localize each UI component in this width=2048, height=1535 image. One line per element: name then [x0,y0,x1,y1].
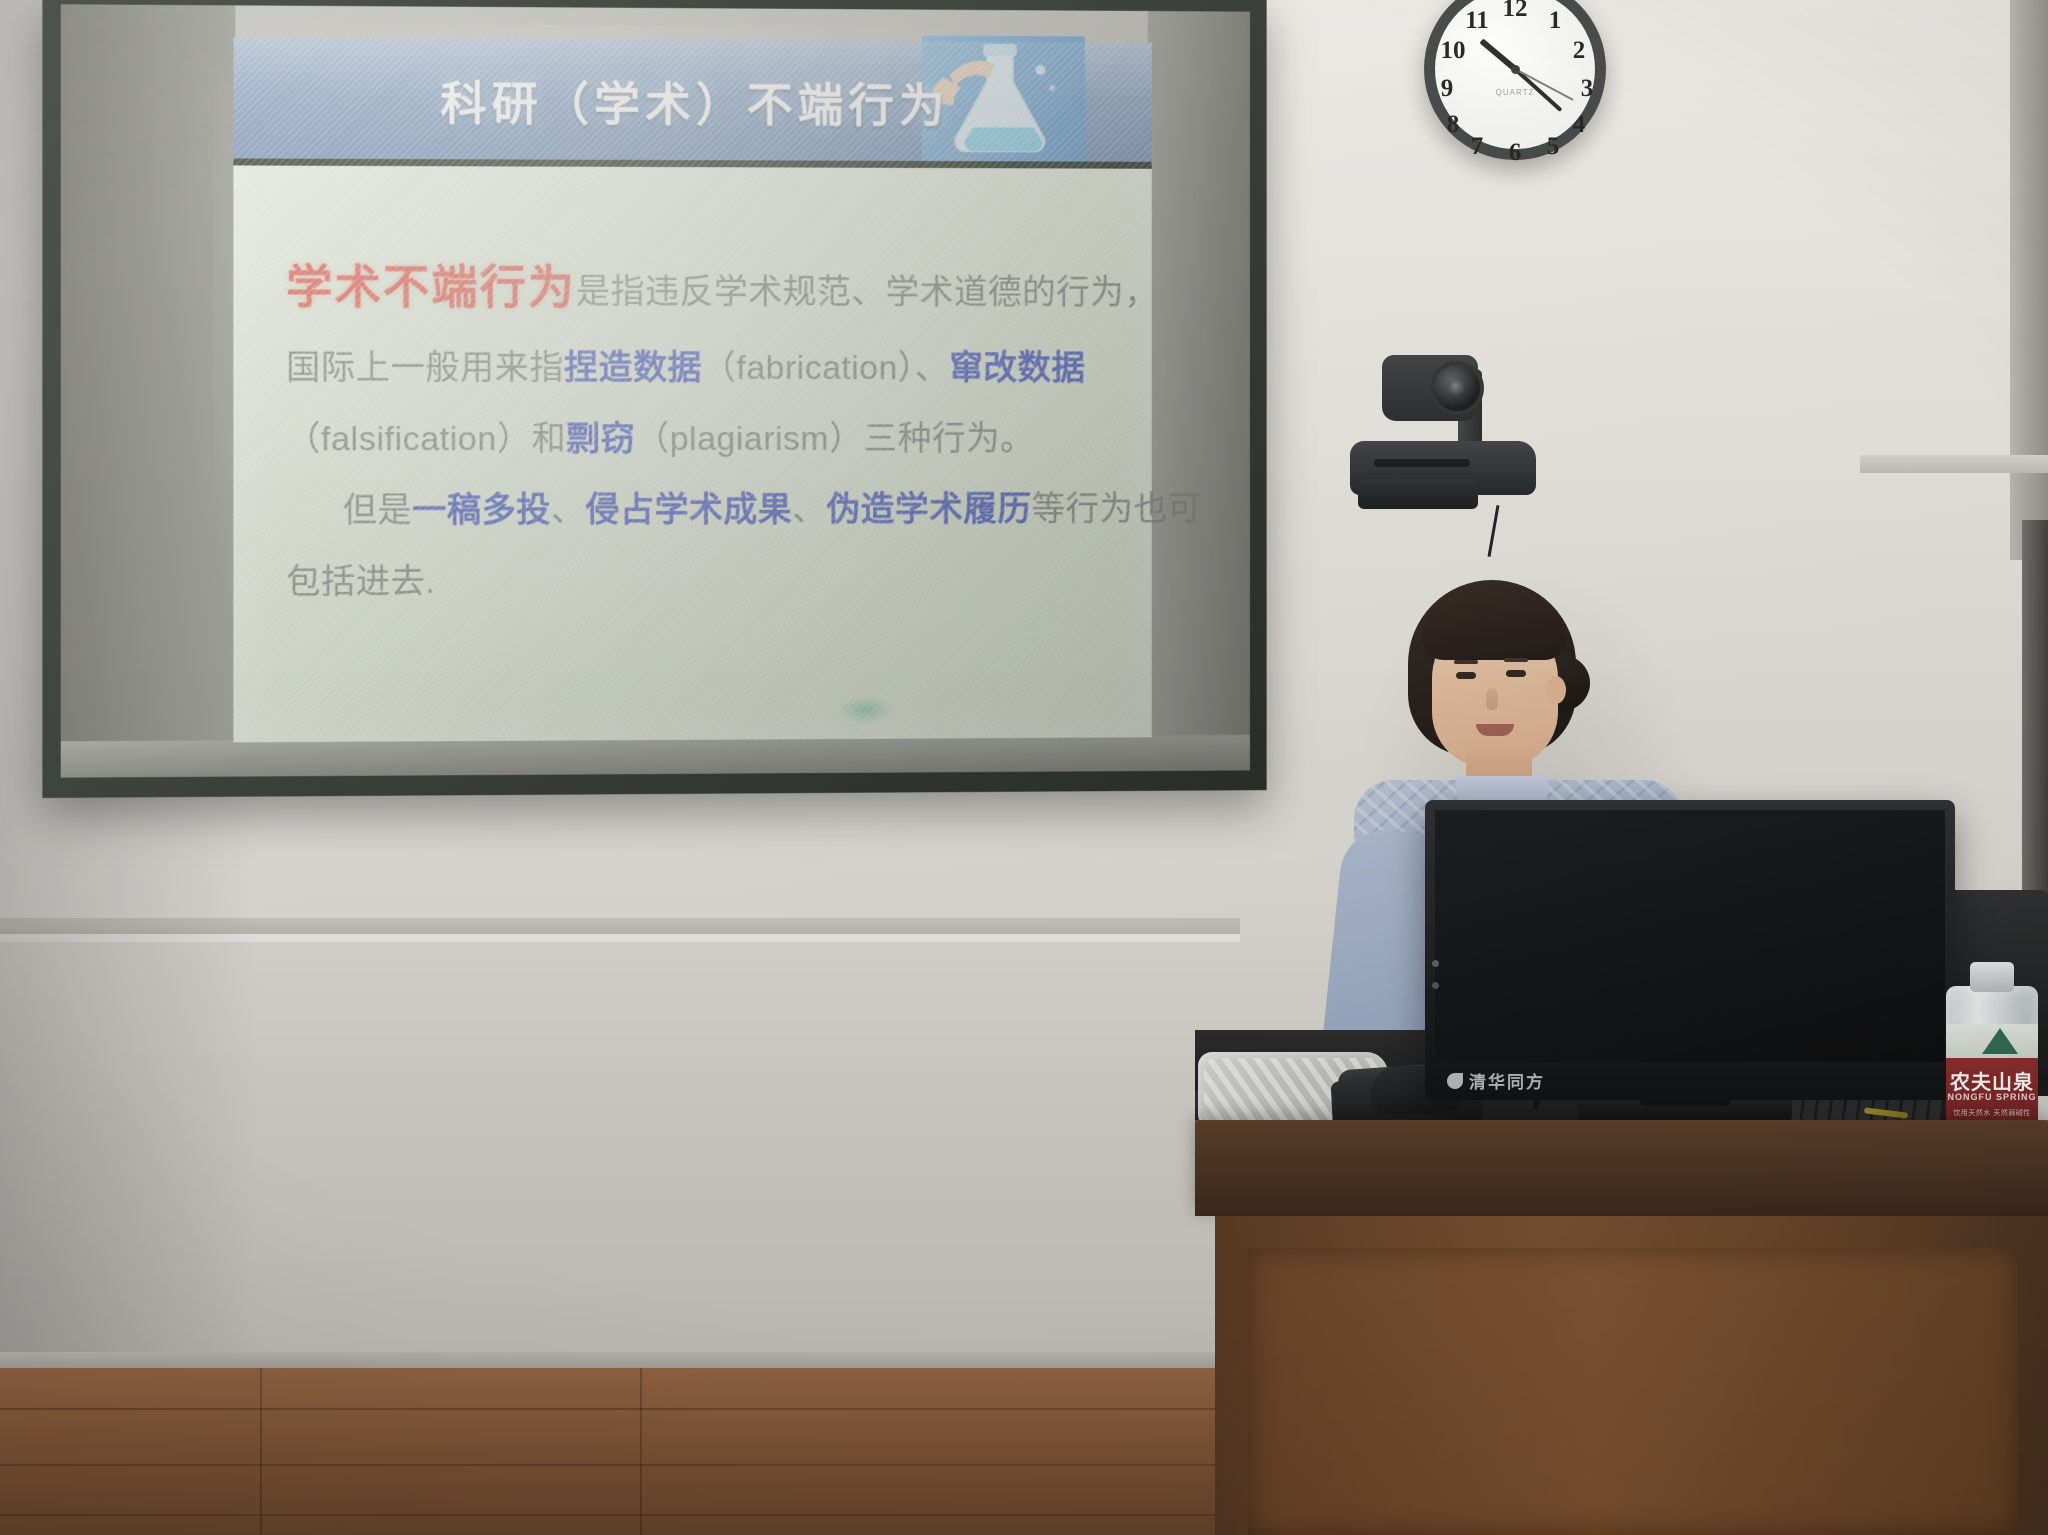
screen-unlit-left [61,4,236,777]
clock-numeral-2: 2 [1565,37,1593,65]
tongfang-logo-icon [1447,1073,1463,1089]
clock-numeral-7: 7 [1463,133,1491,161]
slide-line-5-a: 包括进去. [286,562,435,601]
slide-line-3-a: （falsification）和 [286,420,566,458]
slide-line-1-rest: 是指违反学术规范、学术道德的行为， [576,273,1158,312]
right-wall-rail [1860,455,2048,473]
presenter-fringe [1422,600,1566,660]
keyword-duplicate-submission: 一稿多投 [412,491,551,529]
keyword-falsification-cn: 窜改数据 [949,349,1085,387]
projection-screen-surface: 科研（学术）不端行为 学术不端行为是指违反学术规范、学术道德的行为， 国际上一般… [61,4,1250,777]
slide-title-bar: 科研（学术）不端行为 [233,38,1151,164]
presenter-eye-right [1506,670,1526,677]
podium-top [1195,1120,2048,1216]
clock-brand-text: QUARTZ [1496,88,1535,97]
monitor-power-led [1432,960,1439,967]
monitor-screen[interactable] [1435,810,1945,1062]
presenter-brow-right [1504,658,1528,662]
right-door-edge [2022,520,2048,940]
presenter-eye-left [1456,672,1476,679]
podium-front-panel [1248,1248,2018,1535]
slide-title-rule [233,158,1151,168]
slide-line-2-c: （fabrication）、 [702,349,949,387]
monitor-brand: 清华同方 [1447,1068,1545,1093]
clock-numeral-10: 10 [1439,37,1467,65]
camera-head [1382,355,1478,421]
monitor-menu-button[interactable] [1432,982,1439,989]
slide-line-4: 但是一稿多投、侵占学术成果、伪造学术履历等行为也可 [286,482,1104,539]
clock-numeral-8: 8 [1439,111,1467,139]
camera-wall-mount [1358,479,1478,509]
flask-icon [922,36,1085,168]
slide-line-3-c: （plagiarism）三种行为。 [635,419,1034,457]
slide-body: 学术不端行为是指违反学术规范、学术道德的行为， 国际上一般用来指捏造数据（fab… [286,249,1104,626]
screen-unlit-bottom [61,735,1250,778]
right-wall-panel [2010,0,2048,560]
clock-numeral-9: 9 [1433,75,1461,103]
clock-numeral-6: 6 [1501,139,1529,167]
slide-line-4-e: 、 [792,490,826,528]
camera-speaker-grille [1374,459,1470,467]
screen-unlit-right [1148,11,1250,771]
projector-glow [213,23,1171,758]
clock-numeral-12: 12 [1501,0,1529,23]
keyword-fabrication-cn: 捏造数据 [564,348,702,386]
screen-smudge [835,695,895,725]
mountain-icon [1982,1028,2018,1054]
presenter-mouth [1476,724,1514,736]
slide-title: 科研（学术）不端行为 [233,38,1151,164]
clock-numeral-3: 3 [1573,75,1601,103]
slide-line-4-a: 但是 [343,491,413,529]
monitor-brand-text: 清华同方 [1469,1068,1545,1093]
slide-line-2: 国际上一般用来指捏造数据（fabrication）、窜改数据 [286,340,1104,395]
clock-numeral-11: 11 [1463,7,1491,35]
keyword-plagiarism-cn: 剽窃 [566,420,635,458]
classroom-photo: 科研（学术）不端行为 学术不端行为是指违反学术规范、学术道德的行为， 国际上一般… [0,0,2048,1535]
bottle-subtext: 饮用天然水 天然弱碱性 [1946,1108,2038,1118]
keyword-fake-cv: 伪造学术履历 [826,490,1031,528]
bottle-cap [1970,962,2014,992]
slide-line-4-g: 等行为也可 [1032,490,1202,528]
slide-line-5: 包括进去. [286,553,1104,611]
clock-center-pin [1511,65,1520,74]
presenter-nose [1486,688,1498,710]
projected-slide: 科研（学术）不端行为 学术不端行为是指违反学术规范、学术道德的行为， 国际上一般… [233,38,1151,743]
wall-clock: 12 1 2 3 4 5 6 7 8 9 10 11 QUARTZ [1424,0,1606,160]
bottle-brand-en: NONGFU SPRING [1946,1092,2038,1102]
keyword-appropriation: 侵占学术成果 [585,490,792,528]
clock-numeral-1: 1 [1541,7,1569,35]
slide-line-4-c: 、 [551,491,586,529]
slide-line-1: 学术不端行为是指违反学术规范、学术道德的行为， [286,249,1104,325]
clock-numeral-4: 4 [1565,111,1593,139]
camera-lens-icon [1434,365,1480,411]
clock-numeral-5: 5 [1539,133,1567,161]
slide-line-2-a: 国际上一般用来指 [286,348,564,386]
presenter-ear [1546,676,1566,704]
presenter-brow-left [1454,660,1478,664]
slide-title-sheen [233,38,1151,99]
slide-line-3: （falsification）和剽窃（plagiarism）三种行为。 [286,411,1104,467]
clock-face: 12 1 2 3 4 5 6 7 8 9 10 11 QUARTZ [1435,0,1595,149]
primary-monitor[interactable]: 清华同方 [1425,800,1955,1100]
projection-screen-frame: 科研（学术）不端行为 学术不端行为是指违反学术规范、学术道德的行为， 国际上一般… [42,0,1266,798]
camera-lens-inner [1448,379,1466,397]
keyword-academic-misconduct: 学术不端行为 [286,260,576,313]
bottle-brand-cn: 农夫山泉 [1946,1066,2038,1095]
ptz-camera [1350,355,1550,495]
